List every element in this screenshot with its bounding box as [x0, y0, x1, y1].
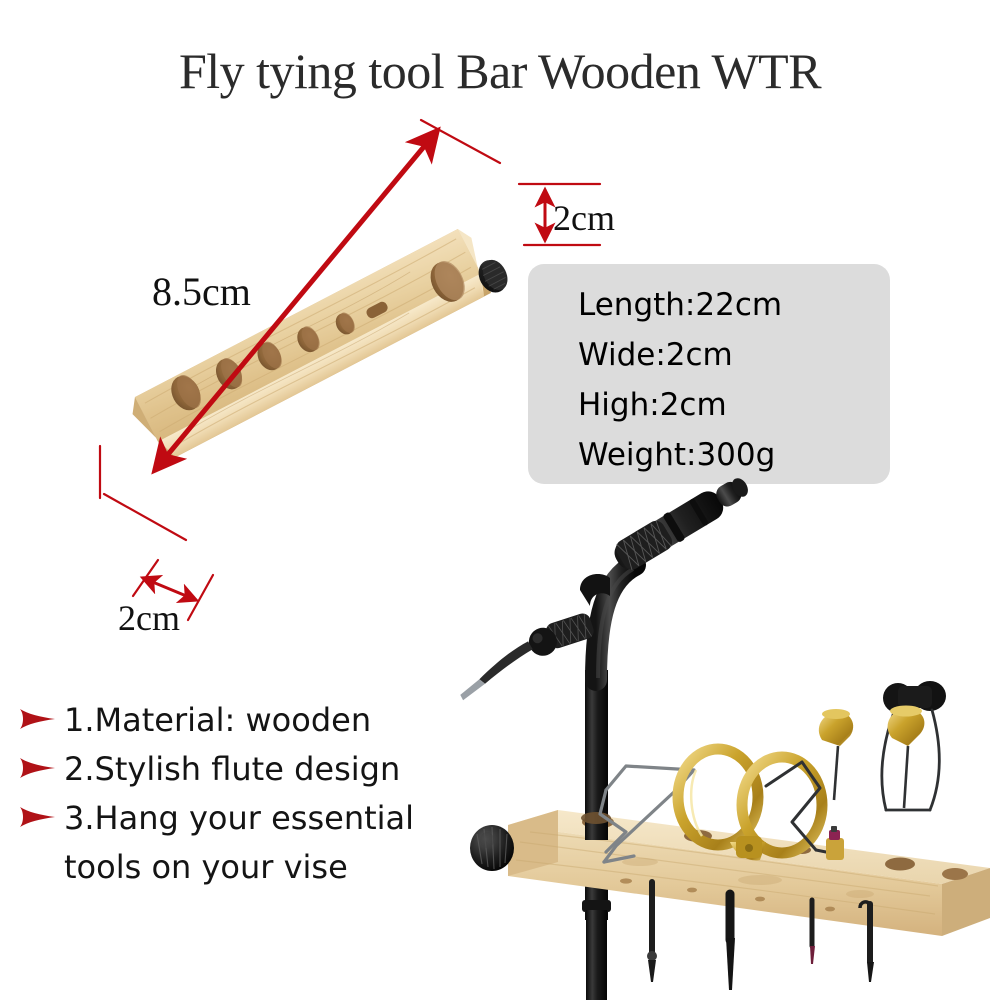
arrow-bullet-icon [18, 795, 64, 830]
arrow-bullet-icon [18, 746, 64, 781]
small-tool-holder [826, 826, 844, 860]
vise-post [582, 565, 635, 1000]
feature-text-3-continued: tools on your vise [64, 844, 348, 891]
spec-length: Length:22cm [578, 280, 782, 330]
vise-product-photo [430, 470, 1000, 1000]
vise-jaw [448, 611, 602, 700]
list-item: 1.Material: wooden [18, 697, 488, 744]
feature-list: 1.Material: wooden 2.Stylish flute desig… [18, 697, 488, 893]
gold-bobbin-1 [819, 709, 853, 800]
hanging-tools [647, 882, 874, 990]
feature-text-2: 2.Stylish flute design [64, 746, 400, 793]
arrow-bullet-icon [18, 697, 64, 732]
spec-width: Wide:2cm [578, 330, 782, 380]
hackle-pliers [600, 766, 694, 862]
dimension-label-length: 8.5cm [152, 268, 251, 315]
feature-text-1: 1.Material: wooden [64, 697, 371, 744]
wooden-tool-bar-mounted [470, 810, 990, 936]
black-bobbin [882, 681, 946, 810]
list-item: 2.Stylish flute design [18, 746, 488, 793]
product-infographic: Fly tying tool Bar Wooden WTR [0, 0, 1000, 1000]
list-item-continuation: tools on your vise [18, 844, 488, 891]
page-title: Fly tying tool Bar Wooden WTR [0, 42, 1000, 100]
dimension-label-width: 2cm [118, 597, 180, 639]
spec-height: High:2cm [578, 380, 782, 430]
gold-scissors [678, 749, 822, 860]
whip-finisher [766, 762, 836, 854]
specification-list: Length:22cm Wide:2cm High:2cm Weight:300… [578, 280, 782, 480]
list-item: 3.Hang your essential [18, 795, 488, 842]
product-specifications-box: Length:22cm Wide:2cm High:2cm Weight:300… [528, 264, 890, 484]
gold-bobbin-2 [888, 706, 925, 809]
dimension-label-height: 2cm [553, 197, 615, 239]
feature-text-3: 3.Hang your essential [64, 795, 414, 842]
spec-weight: Weight:300g [578, 430, 782, 480]
vise-head [609, 470, 754, 575]
